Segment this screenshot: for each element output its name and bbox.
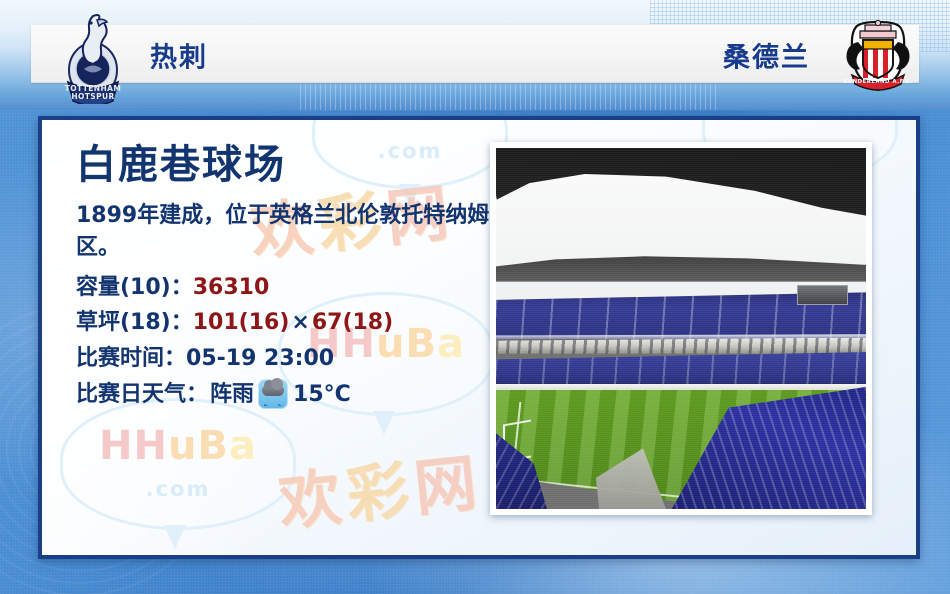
stadium-title: 白鹿巷球场 — [76, 144, 492, 186]
kickoff-row: 比赛时间：05-19 23:00 — [76, 341, 492, 377]
tottenham-hotspur-crest-icon: TOTTENHAM HOTSPUR — [60, 8, 126, 104]
watermark-brand-bottom: HHuBa — [63, 423, 293, 469]
raindrops-shape — [264, 398, 283, 406]
cloud-shape — [262, 385, 284, 396]
svg-text:SUNDERLAND A.F.C.: SUNDERLAND A.F.C. — [843, 79, 912, 85]
capacity-label: 容量(10)： — [76, 275, 193, 300]
watermark-bottom-dotcom: .com — [63, 477, 293, 501]
photo-lower-stand-rows — [496, 352, 866, 386]
kickoff-value: 05-19 23:00 — [186, 346, 334, 371]
page-root: 热刺 桑德兰 TOTTENHAM HOTSPUR — [0, 0, 950, 594]
home-team-name: 热刺 — [150, 36, 208, 75]
pitch-width-value: 67(18) — [312, 310, 393, 335]
photo-lower-stand — [496, 352, 866, 386]
watermark-brand-b1: HH — [99, 423, 168, 469]
header-dot-texture — [300, 84, 720, 110]
stadium-info-card: .com .com 欢彩网 HHuBa HHuBa .com 欢彩网 白鹿巷球场… — [38, 116, 920, 559]
photo-scoreboard — [797, 285, 847, 305]
watermark-cn-b1: 欢 — [275, 460, 350, 540]
weather-condition: 阵雨 — [210, 377, 254, 413]
stadium-photo-frame — [490, 142, 872, 515]
watermark-cn-b3: 网 — [411, 446, 486, 526]
away-team-name: 桑德兰 — [723, 36, 810, 75]
stadium-description: 1899年建成，位于英格兰北伦敦托特纳姆区。 — [76, 200, 492, 264]
weather-row: 比赛日天气：阵雨 15°C — [76, 377, 492, 413]
stadium-info-block: 白鹿巷球场 1899年建成，位于英格兰北伦敦托特纳姆区。 容量(10)：3631… — [72, 144, 492, 412]
pitch-multiply-sign: × — [289, 310, 311, 335]
watermark-huancai-bottom: 欢彩网 — [274, 432, 486, 543]
capacity-row: 容量(10)：36310 — [76, 270, 492, 306]
white-hart-lane-interior-photo — [496, 148, 866, 509]
watermark-brand-b3: a — [229, 423, 257, 469]
pitch-label: 草坪(18)： — [76, 310, 193, 335]
watermark-bubble-bottom-left: HHuBa .com — [60, 398, 296, 530]
weather-temperature: 15°C — [293, 377, 351, 413]
photo-hospitality-band — [496, 338, 866, 354]
svg-text:HOTSPUR: HOTSPUR — [71, 92, 114, 101]
kickoff-label: 比赛时间： — [76, 346, 186, 371]
photo-hospitality-windows — [496, 338, 866, 354]
shower-rain-icon — [258, 379, 288, 409]
sunderland-afc-crest-icon: SUNDERLAND A.F.C. — [840, 18, 916, 92]
watermark-brand-b2: uB — [168, 423, 229, 469]
pitch-row: 草坪(18)：101(16)×67(18) — [76, 305, 492, 341]
watermark-cn-b2: 彩 — [343, 453, 418, 533]
match-header: 热刺 桑德兰 TOTTENHAM HOTSPUR — [0, 0, 950, 110]
capacity-value: 36310 — [193, 275, 270, 300]
pitch-length-value: 101(16) — [193, 310, 290, 335]
weather-label: 比赛日天气： — [76, 377, 208, 413]
